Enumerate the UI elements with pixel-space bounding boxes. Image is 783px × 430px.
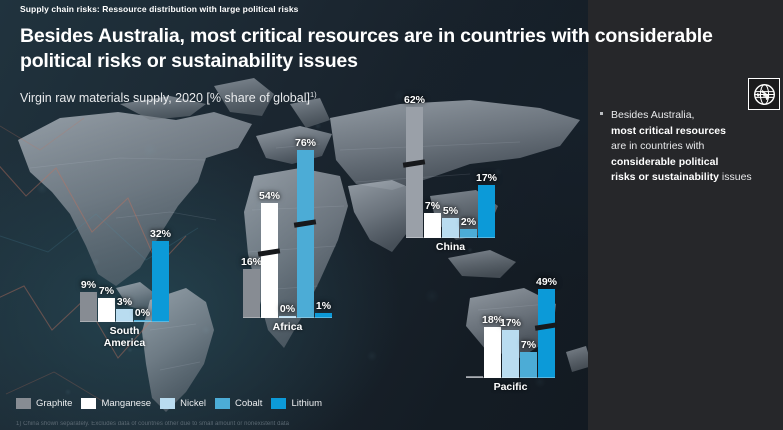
bullet-part-2: most critical resources (611, 125, 726, 137)
bar-nickel[interactable]: 17% (502, 273, 519, 378)
bar-rect (80, 292, 97, 322)
legend-swatch (215, 398, 230, 409)
legend-label: Nickel (180, 398, 206, 409)
bar-value-label: 2% (461, 216, 476, 228)
bar-manganese[interactable]: 7% (424, 91, 441, 238)
bar-cobalt[interactable]: 76% (297, 134, 314, 318)
axis-break-mark (403, 159, 426, 167)
group-baseline (406, 237, 495, 238)
bar-graphite[interactable]: 9% (80, 225, 97, 322)
bar-cobalt[interactable]: 0% (134, 225, 151, 322)
chart-group-africa: 16%54%0%76%1%Africa (243, 134, 332, 333)
legend-swatch (271, 398, 286, 409)
bar-manganese[interactable]: 54% (261, 134, 278, 318)
footnote: 1) China shown separately. Excludes data… (16, 421, 576, 427)
chart-subtitle: Virgin raw materials supply, 2020 [% sha… (20, 90, 317, 105)
bar-value-label: 9% (81, 279, 96, 291)
bar-value-label: 17% (500, 317, 521, 329)
group-label: SouthAmerica (80, 325, 169, 349)
bar-value-label: 3% (117, 296, 132, 308)
legend-swatch (81, 398, 96, 409)
bar-manganese[interactable]: 7% (98, 225, 115, 322)
subtitle-text: Virgin raw materials supply, 2020 [% sha… (20, 91, 310, 105)
legend-item-cobalt[interactable]: Cobalt (215, 398, 262, 409)
key-message-bullet: Besides Australia, most critical resourc… (600, 108, 780, 186)
bar-value-label: 0% (280, 303, 295, 315)
group-label-line-2: America (80, 337, 169, 349)
group-label: China (406, 241, 495, 253)
group-label: Pacific (466, 381, 555, 393)
bar-rect (502, 330, 519, 378)
axis-break-mark (258, 248, 281, 256)
chart-group-pacific: 18%17%7%49%Pacific (466, 273, 555, 393)
legend-label: Manganese (101, 398, 151, 409)
axis-break-mark (535, 322, 558, 330)
bullet-marker-icon (600, 112, 603, 115)
bar-nickel[interactable]: 3% (116, 225, 133, 322)
bar-rect (243, 269, 260, 318)
bar-value-label: 32% (150, 228, 171, 240)
bar-value-label: 76% (295, 137, 316, 149)
bar-nickel[interactable]: 5% (442, 91, 459, 238)
bullet-part-3: are in countries with (611, 140, 704, 152)
bar-rect (297, 150, 314, 318)
bullet-part-1: Besides Australia, (611, 109, 694, 121)
bar-graphite[interactable]: 62% (406, 91, 423, 238)
bullet-part-5: risks or sustainability (611, 171, 719, 183)
chart-group-south-america: 9%7%3%0%32%SouthAmerica (80, 225, 169, 349)
headline-line-2: political risks or sustainability issues (20, 50, 358, 72)
legend-swatch (16, 398, 31, 409)
bar-value-label: 62% (404, 94, 425, 106)
bar-cluster: 9%7%3%0%32% (80, 225, 169, 322)
bar-rect (478, 185, 495, 238)
chart-group-china: 62%7%5%2%17%China (406, 91, 495, 253)
bar-lithium[interactable]: 49% (538, 273, 555, 378)
bar-rect (152, 241, 169, 322)
bar-value-label: 49% (536, 276, 557, 288)
bar-graphite[interactable] (466, 273, 483, 378)
subtitle-footnote-marker: 1) (310, 90, 317, 99)
bar-rect (98, 298, 115, 322)
bar-cluster: 16%54%0%76%1% (243, 134, 332, 318)
bar-rect (261, 203, 278, 318)
bar-value-label: 5% (443, 205, 458, 217)
group-baseline (80, 321, 169, 322)
bar-lithium[interactable]: 17% (478, 91, 495, 238)
bar-manganese[interactable]: 18% (484, 273, 501, 378)
group-label: Africa (243, 321, 332, 333)
legend-label: Graphite (36, 398, 72, 409)
slide-canvas: Supply chain risks: Ressource distributi… (0, 0, 783, 430)
bullet-part-6: issues (722, 171, 752, 183)
group-baseline (466, 377, 555, 378)
legend-swatch (160, 398, 175, 409)
bar-rect (442, 218, 459, 238)
bar-value-label: 17% (476, 172, 497, 184)
legend-item-manganese[interactable]: Manganese (81, 398, 151, 409)
bar-rect (520, 352, 537, 378)
legend-item-graphite[interactable]: Graphite (16, 398, 72, 409)
bar-value-label: 7% (425, 200, 440, 212)
legend-item-nickel[interactable]: Nickel (160, 398, 206, 409)
eyebrow-label: Supply chain risks: Ressource distributi… (20, 4, 299, 14)
bar-rect (406, 107, 423, 238)
chart-legend: GraphiteManganeseNickelCobaltLithium (16, 398, 322, 409)
globe-badge (748, 78, 780, 110)
group-label-line-1: China (436, 241, 465, 253)
bar-value-label: 54% (259, 190, 280, 202)
bar-value-label: 1% (316, 300, 331, 312)
bar-cluster: 18%17%7%49% (466, 273, 555, 378)
bar-value-label: 7% (521, 339, 536, 351)
legend-label: Lithium (291, 398, 322, 409)
page-title: Besides Australia, most critical resourc… (20, 24, 740, 74)
bar-lithium[interactable]: 32% (152, 225, 169, 322)
bullet-part-4: considerable political (611, 156, 718, 168)
bar-value-label: 0% (135, 307, 150, 319)
bar-rect (538, 289, 555, 378)
legend-item-lithium[interactable]: Lithium (271, 398, 322, 409)
bar-rect (424, 213, 441, 238)
headline-line-1: Besides Australia, most critical resourc… (20, 25, 713, 47)
bullet-text: Besides Australia, most critical resourc… (611, 108, 780, 186)
group-label-line-1: Pacific (494, 381, 528, 393)
bar-graphite[interactable]: 16% (243, 134, 260, 318)
bar-lithium[interactable]: 1% (315, 134, 332, 318)
group-label-line-1: Africa (273, 321, 303, 333)
group-label-line-1: South (110, 325, 140, 337)
bar-value-label: 7% (99, 285, 114, 297)
group-baseline (243, 317, 332, 318)
legend-label: Cobalt (235, 398, 262, 409)
axis-break-mark (294, 219, 317, 227)
bar-value-label: 16% (241, 256, 262, 268)
bar-cluster: 62%7%5%2%17% (406, 91, 495, 238)
bar-cobalt[interactable]: 2% (460, 91, 477, 238)
bar-rect (484, 327, 501, 378)
globe-icon (753, 83, 776, 106)
